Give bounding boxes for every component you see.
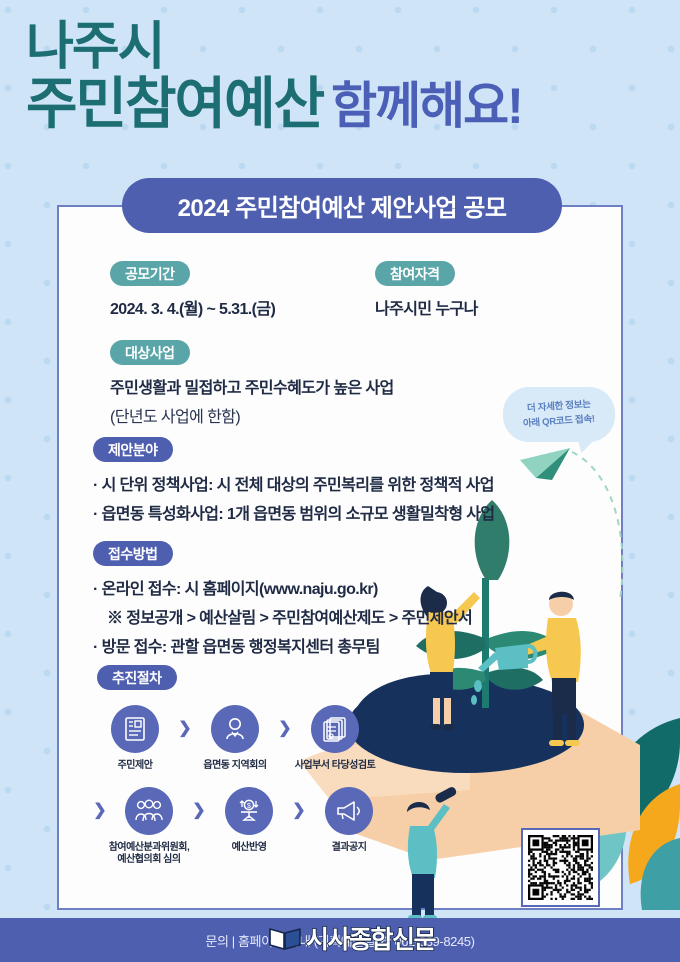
flow-arrow-icon: ❯ xyxy=(191,787,207,835)
headline-line-1: 나주시 xyxy=(26,22,666,73)
process-flow-row-2: ❯ 참여예산분과위원회, 예산협의회 심의 ❯ xyxy=(93,787,393,867)
open-book-icon xyxy=(268,924,302,952)
section-apply: 접수방법 · 온라인 접수: 시 홈페이지(www.naju.go.kr) ※ … xyxy=(93,541,472,657)
megaphone-icon xyxy=(325,787,373,835)
section-fields-item: · 시 단위 정책사업: 시 전체 대상의 주민복리를 위한 정책적 사업 xyxy=(93,471,495,495)
svg-text:$: $ xyxy=(247,803,251,810)
banner-title: 2024 주민참여예산 제안사업 공모 xyxy=(122,178,562,233)
poster-root: 나주시 주민참여예산함께해요! 2024 주민참여예산 제안사업 공모 공모기간… xyxy=(0,0,680,962)
process-step: 결과공지 xyxy=(307,787,391,855)
process-step: $ 예산반영 xyxy=(207,787,291,855)
flow-arrow-icon: ❯ xyxy=(177,705,193,753)
section-target: 대상사업 주민생활과 밀접하고 주민수혜도가 높은 사업 (단년도 사업에 한함… xyxy=(110,340,394,427)
qr-code-canvas xyxy=(528,835,593,900)
process-step: 사업부서 타당성검토 xyxy=(293,705,377,773)
process-step-label: 예산반영 xyxy=(207,842,291,855)
section-target-line-1: 주민생활과 밀접하고 주민수혜도가 높은 사업 xyxy=(110,374,394,398)
process-flow: 주민제안 ❯ 읍면동 지역회의 ❯ xyxy=(93,705,393,867)
headline-line-2: 주민참여예산함께해요! xyxy=(26,77,666,132)
process-step: 참여예산분과위원회, 예산협의회 심의 xyxy=(107,787,191,867)
section-period-value: 2024. 3. 4.(월) ~ 5.31.(금) xyxy=(110,295,275,319)
flow-arrow-icon: ❯ xyxy=(277,705,293,753)
document-icon xyxy=(111,705,159,753)
section-eligibility: 참여자격 나주시민 누구나 xyxy=(375,261,478,319)
page-title: 나주시 주민참여예산함께해요! xyxy=(26,22,666,132)
section-process: 추진절차 xyxy=(97,665,177,690)
section-period: 공모기간 2024. 3. 4.(월) ~ 5.31.(금) xyxy=(110,261,275,319)
section-period-label: 공모기간 xyxy=(110,261,190,286)
process-step-label: 주민제안 xyxy=(93,760,177,773)
headline-main-text: 주민참여예산 xyxy=(26,72,323,135)
section-apply-item: · 온라인 접수: 시 홈페이지(www.naju.go.kr) xyxy=(93,575,472,599)
flow-arrow-icon: ❯ xyxy=(93,787,107,835)
section-fields-item: · 읍면동 특성화사업: 1개 읍면동 범위의 소규모 생활밀착형 사업 xyxy=(93,500,495,524)
process-step-label: 사업부서 타당성검토 xyxy=(293,760,377,773)
section-fields: 제안분야 · 시 단위 정책사업: 시 전체 대상의 주민복리를 위한 정책적 … xyxy=(93,437,495,524)
process-step-label: 참여예산분과위원회, 예산협의회 심의 xyxy=(107,842,191,867)
section-target-label: 대상사업 xyxy=(110,340,190,365)
watermark-text: 시사종합신문 xyxy=(306,920,435,956)
section-apply-item: ※ 정보공개 > 예산살림 > 주민참여예산제도 > 주민제안서 xyxy=(93,604,472,628)
headline-accent-text: 함께해요! xyxy=(331,78,522,134)
qr-code[interactable] xyxy=(521,828,600,907)
section-process-label: 추진절차 xyxy=(97,665,177,690)
group-people-icon xyxy=(125,787,173,835)
section-apply-label: 접수방법 xyxy=(93,541,173,566)
section-eligibility-value: 나주시민 누구나 xyxy=(375,295,478,319)
documents-stack-icon xyxy=(311,705,359,753)
qr-hint-bubble: 더 자세한 정보는 아래 QR코드 접속! xyxy=(503,387,615,442)
section-target-line-2: (단년도 사업에 한함) xyxy=(110,403,394,427)
process-step-label: 읍면동 지역회의 xyxy=(193,760,277,773)
flow-arrow-icon: ❯ xyxy=(291,787,307,835)
section-fields-label: 제안분야 xyxy=(93,437,173,462)
section-apply-item: · 방문 접수: 관할 읍면동 행정복지센터 총무팀 xyxy=(93,633,472,657)
section-eligibility-label: 참여자격 xyxy=(375,261,455,286)
watermark: 시사종합신문 xyxy=(268,920,435,956)
process-step: 읍면동 지역회의 xyxy=(193,705,277,773)
person-icon xyxy=(211,705,259,753)
process-flow-row-1: 주민제안 ❯ 읍면동 지역회의 ❯ xyxy=(93,705,393,773)
process-step: 주민제안 xyxy=(93,705,177,773)
process-step-label: 결과공지 xyxy=(307,842,391,855)
budget-scale-icon: $ xyxy=(225,787,273,835)
